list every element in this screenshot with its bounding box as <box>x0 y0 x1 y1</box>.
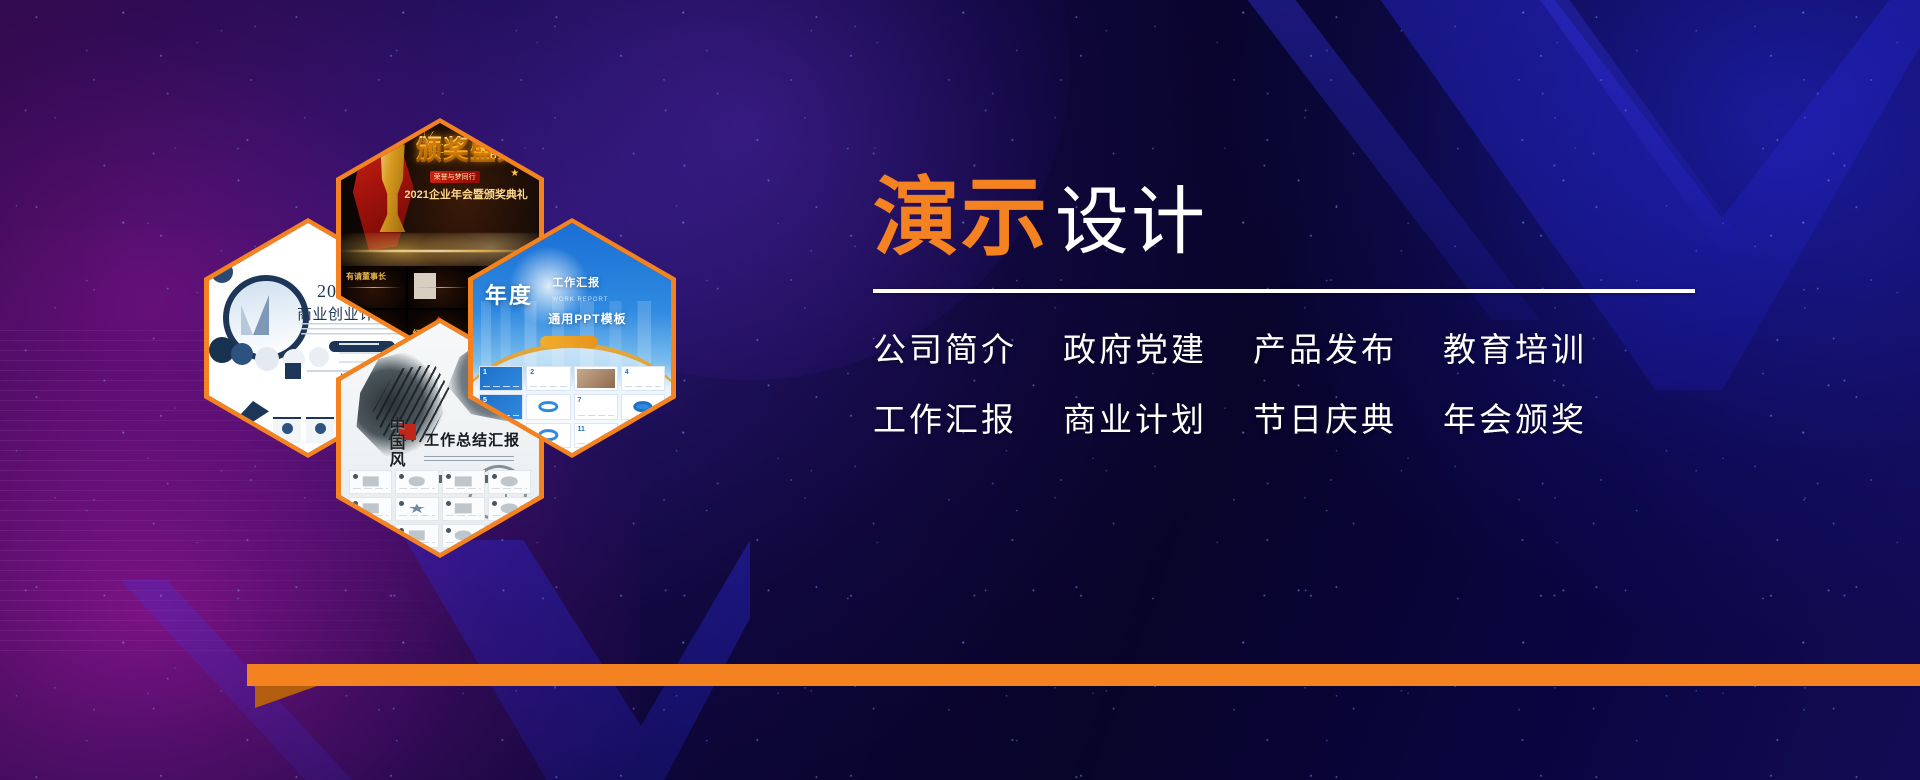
award-tag: 荣誉与梦同行 <box>430 171 480 183</box>
tag-business-plan[interactable]: 商业计划 <box>1063 393 1207 441</box>
annual-presenter-button <box>540 336 598 348</box>
annual-slide-cell <box>526 394 570 420</box>
tag-row-1: 公司简介 政府党建 产品发布 教育培训 <box>873 323 1833 371</box>
annual-slide-cell: 1 <box>479 366 523 392</box>
award-slide-cell <box>408 266 473 309</box>
decor-square <box>285 363 301 379</box>
annual-slide-cell: 4 <box>621 366 665 392</box>
annual-slide-cell: 2 <box>526 366 570 392</box>
annual-report-label: 工作汇报 <box>552 274 600 290</box>
ink-slide-cell <box>349 524 392 548</box>
decor-dot <box>255 347 279 371</box>
chevron-bottom-left-large <box>330 540 750 780</box>
annual-template-label: 通用PPT模板 <box>548 310 626 327</box>
annual-slide-cell <box>621 394 665 420</box>
ink-slide-cell <box>395 470 438 494</box>
star-icon: ★ <box>479 144 488 155</box>
ink-slide-grid <box>349 470 531 548</box>
annual-slide-cell: 11 <box>574 423 618 449</box>
annual-slide-cell: 7 <box>574 394 618 420</box>
hexagon-cluster: 2020 商业创业计划书 <box>0 0 760 560</box>
page-title: 演示 设计 <box>873 175 1833 275</box>
title-plain: 设计 <box>1055 185 1207 259</box>
award-cell-label: 有请董事长 <box>346 271 386 282</box>
annual-slide-cell <box>574 366 618 392</box>
annual-year-label: 年度 <box>485 278 533 310</box>
award-slide-cell: 有请董事长 <box>341 266 406 309</box>
award-title-en: HONO <box>490 150 525 160</box>
ink-slide-cell <box>488 524 531 548</box>
tag-row-2: 工作汇报 商业计划 节日庆典 年会颁奖 <box>873 393 1833 441</box>
tag-government-party[interactable]: 政府党建 <box>1063 323 1207 371</box>
tag-education-training[interactable]: 教育培训 <box>1443 323 1587 371</box>
tag-work-report[interactable]: 工作汇报 <box>873 393 1017 441</box>
tag-annual-awards[interactable]: 年会颁奖 <box>1443 393 1587 441</box>
sailboat-icon <box>253 295 269 335</box>
title-divider <box>873 289 1695 293</box>
ink-slide-cell <box>349 470 392 494</box>
orange-bottom-bar <box>255 664 1920 686</box>
star-icon: ★ <box>510 168 519 179</box>
ink-vertical-title: 中国风 <box>387 417 403 468</box>
orange-bar-left-tip <box>247 664 263 686</box>
ink-slide-cell <box>395 524 438 548</box>
ink-slide-cell <box>442 524 485 548</box>
tag-product-launch[interactable]: 产品发布 <box>1253 323 1397 371</box>
decor-swoosh <box>229 401 269 427</box>
thumb-card <box>306 417 334 443</box>
tag-holiday-celebration[interactable]: 节日庆典 <box>1253 393 1397 441</box>
decor-dot <box>309 347 329 367</box>
sailboat-secondary-icon <box>241 305 253 335</box>
banner-root: 2020 商业创业计划书 <box>0 0 1920 780</box>
decor-dot <box>231 343 253 365</box>
ink-slide-cell <box>442 470 485 494</box>
ink-slide-cell <box>442 497 485 521</box>
ink-title: 工作总结汇报 <box>424 429 520 450</box>
thumb-card <box>273 417 301 443</box>
ink-slide-cell <box>395 497 438 521</box>
ink-slide-cell <box>349 497 392 521</box>
decor-dot <box>211 261 233 283</box>
annual-report-label-en: WORK REPORT <box>552 297 608 303</box>
ink-slide-cell <box>488 497 531 521</box>
award-subtitle: 2021企业年会暨颁奖典礼 <box>404 186 527 202</box>
content-block: 演示 设计 公司简介 政府党建 产品发布 教育培训 工作汇报 商业计划 节日庆典… <box>873 175 1833 463</box>
title-accent: 演示 <box>873 175 1049 261</box>
tag-list: 公司简介 政府党建 产品发布 教育培训 工作汇报 商业计划 节日庆典 年会颁奖 <box>873 323 1833 441</box>
award-title: 颁奖盛典 <box>410 136 529 163</box>
ink-subtitle-lines <box>424 456 514 464</box>
tag-company-intro[interactable]: 公司简介 <box>873 323 1017 371</box>
annual-slide-cell <box>621 423 665 449</box>
ink-slide-cell <box>488 470 531 494</box>
